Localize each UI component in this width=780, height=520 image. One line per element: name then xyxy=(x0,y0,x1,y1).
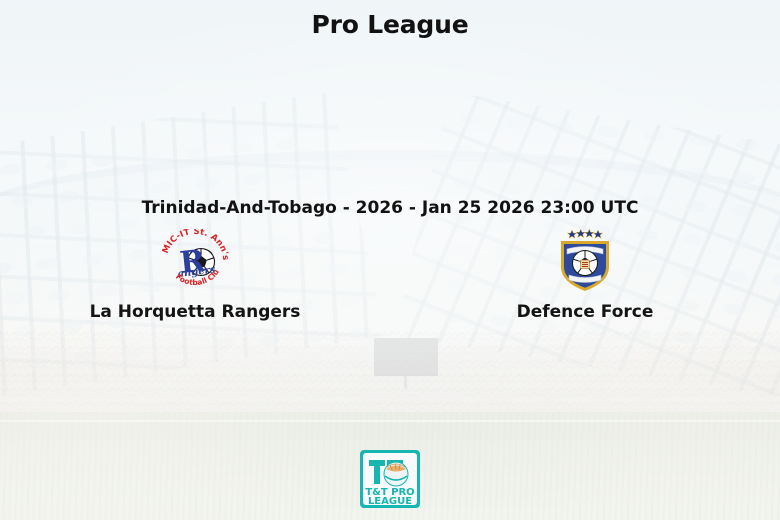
page-title: Pro League xyxy=(0,10,780,39)
away-team-name: Defence Force xyxy=(517,302,654,322)
home-team-crest[interactable]: MIC-IT St. Ann's xyxy=(160,228,230,294)
la-horquetta-rangers-crest-icon: MIC-IT St. Ann's xyxy=(161,229,229,293)
tt-pro-league-badge-icon: T&T PRO LEAGUE xyxy=(360,450,420,508)
home-team-name: La Horquetta Rangers xyxy=(90,302,301,322)
league-badge[interactable]: T&T PRO LEAGUE xyxy=(360,450,420,508)
match-preview-page: Pro League Trinidad-And-Tobago - 2026 - … xyxy=(0,0,780,520)
away-team-crest[interactable] xyxy=(550,228,620,294)
defence-force-crest-icon xyxy=(555,229,615,293)
away-team[interactable]: Defence Force xyxy=(390,228,780,322)
content-layer: Pro League Trinidad-And-Tobago - 2026 - … xyxy=(0,0,780,520)
league-badge-line2: LEAGUE xyxy=(368,496,412,507)
teams-row: MIC-IT St. Ann's xyxy=(0,228,780,322)
match-meta: Trinidad-And-Tobago - 2026 - Jan 25 2026… xyxy=(0,198,780,218)
home-team[interactable]: MIC-IT St. Ann's xyxy=(0,228,390,322)
